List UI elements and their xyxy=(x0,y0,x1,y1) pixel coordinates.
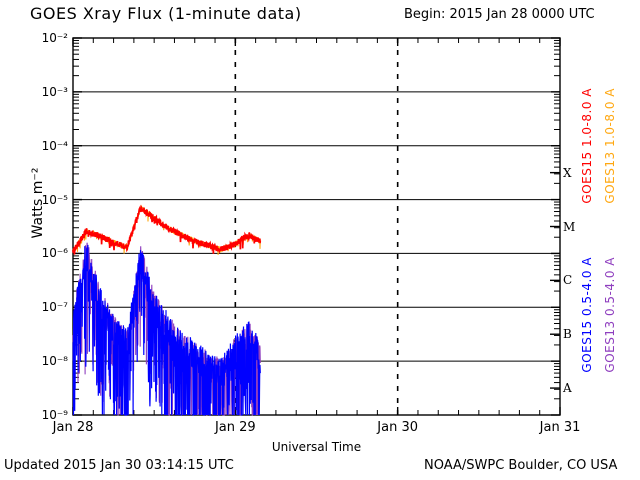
plot-canvas xyxy=(0,0,640,480)
goes-xray-flux-plot: GOES Xray Flux (1-minute data) Begin: 20… xyxy=(0,0,640,480)
series-goes15-long xyxy=(73,207,260,255)
